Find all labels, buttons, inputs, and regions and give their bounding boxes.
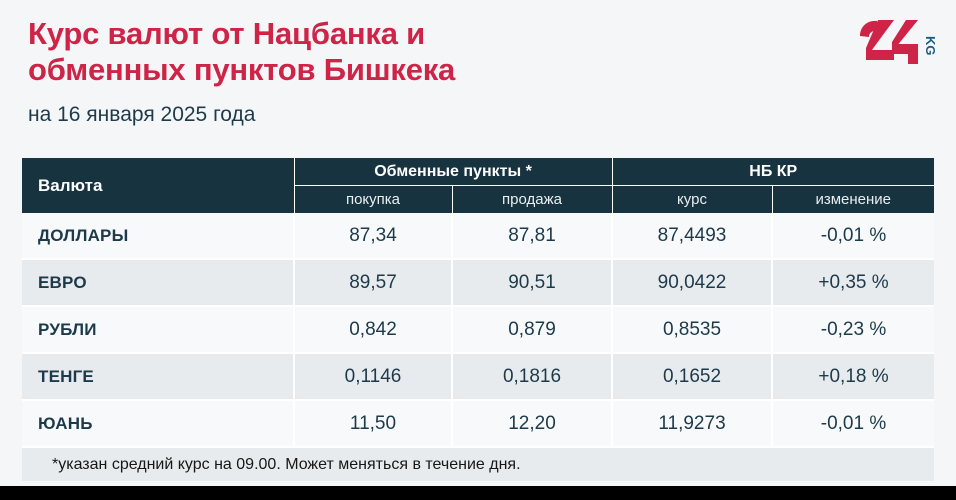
cell-sell: 90,51 (452, 259, 612, 306)
cell-rate: 87,4493 (612, 213, 772, 259)
column-header-rate: курс (612, 186, 772, 214)
table-row: ЮАНЬ 11,50 12,20 11,9273 -0,01 % (22, 400, 934, 447)
cell-rate: 0,8535 (612, 306, 772, 353)
cell-rate: 0,1652 (612, 353, 772, 400)
table-foot: *указан средний курс на 09.00. Может мен… (22, 447, 934, 481)
cell-sell: 0,1816 (452, 353, 612, 400)
table-row: ЕВРО 89,57 90,51 90,0422 +0,35 % (22, 259, 934, 306)
cell-sell: 0,879 (452, 306, 612, 353)
cell-rate: 90,0422 (612, 259, 772, 306)
cell-buy: 0,842 (294, 306, 452, 353)
page-title: Курс валют от Нацбанка и обменных пункто… (28, 16, 728, 88)
table-header-group-row: Валюта Обменные пункты * НБ КР (22, 158, 934, 186)
cell-buy: 0,1146 (294, 353, 452, 400)
table-row: РУБЛИ 0,842 0,879 0,8535 -0,23 % (22, 306, 934, 353)
column-header-currency: Валюта (22, 158, 294, 213)
svg-text:KG: KG (923, 36, 938, 56)
table-row: ТЕНГЕ 0,1146 0,1816 0,1652 +0,18 % (22, 353, 934, 400)
cell-buy: 89,57 (294, 259, 452, 306)
table-head: Валюта Обменные пункты * НБ КР покупка п… (22, 158, 934, 213)
table-body: ДОЛЛАРЫ 87,34 87,81 87,4493 -0,01 % ЕВРО… (22, 213, 934, 447)
column-header-change: изменение (772, 186, 934, 214)
cell-sell: 12,20 (452, 400, 612, 447)
table-footnote: *указан средний курс на 09.00. Может мен… (22, 447, 934, 481)
cell-rate: 11,9273 (612, 400, 772, 447)
page-title-line-1: Курс валют от Нацбанка и (28, 16, 728, 52)
column-group-header-exchange-offices: Обменные пункты * (294, 158, 612, 186)
cell-change: +0,35 % (772, 259, 934, 306)
cell-buy: 87,34 (294, 213, 452, 259)
cell-change: -0,01 % (772, 400, 934, 447)
page-header: Курс валют от Нацбанка и обменных пункто… (0, 0, 956, 150)
cell-change: -0,23 % (772, 306, 934, 353)
bottom-bar (0, 486, 956, 500)
cell-currency: РУБЛИ (22, 306, 294, 353)
cell-sell: 87,81 (452, 213, 612, 259)
table-footnote-row: *указан средний курс на 09.00. Может мен… (22, 447, 934, 481)
page-title-line-2: обменных пунктов Бишкека (28, 52, 728, 88)
column-header-buy: покупка (294, 186, 452, 214)
cell-currency: ЕВРО (22, 259, 294, 306)
cell-currency: ДОЛЛАРЫ (22, 213, 294, 259)
logo-suffix-kg-icon: KG (923, 36, 938, 56)
cell-change: -0,01 % (772, 213, 934, 259)
page-subtitle: на 16 января 2025 года (28, 102, 255, 128)
cell-buy: 11,50 (294, 400, 452, 447)
column-header-sell: продажа (452, 186, 612, 214)
logo-24kg: KG (854, 18, 938, 68)
column-group-header-nbkr: НБ КР (612, 158, 934, 186)
table-row: ДОЛЛАРЫ 87,34 87,81 87,4493 -0,01 % (22, 213, 934, 259)
logo-mark-24-icon (860, 20, 918, 64)
cell-currency: ЮАНЬ (22, 400, 294, 447)
cell-currency: ТЕНГЕ (22, 353, 294, 400)
currency-rates-table: Валюта Обменные пункты * НБ КР покупка п… (22, 158, 934, 481)
cell-change: +0,18 % (772, 353, 934, 400)
